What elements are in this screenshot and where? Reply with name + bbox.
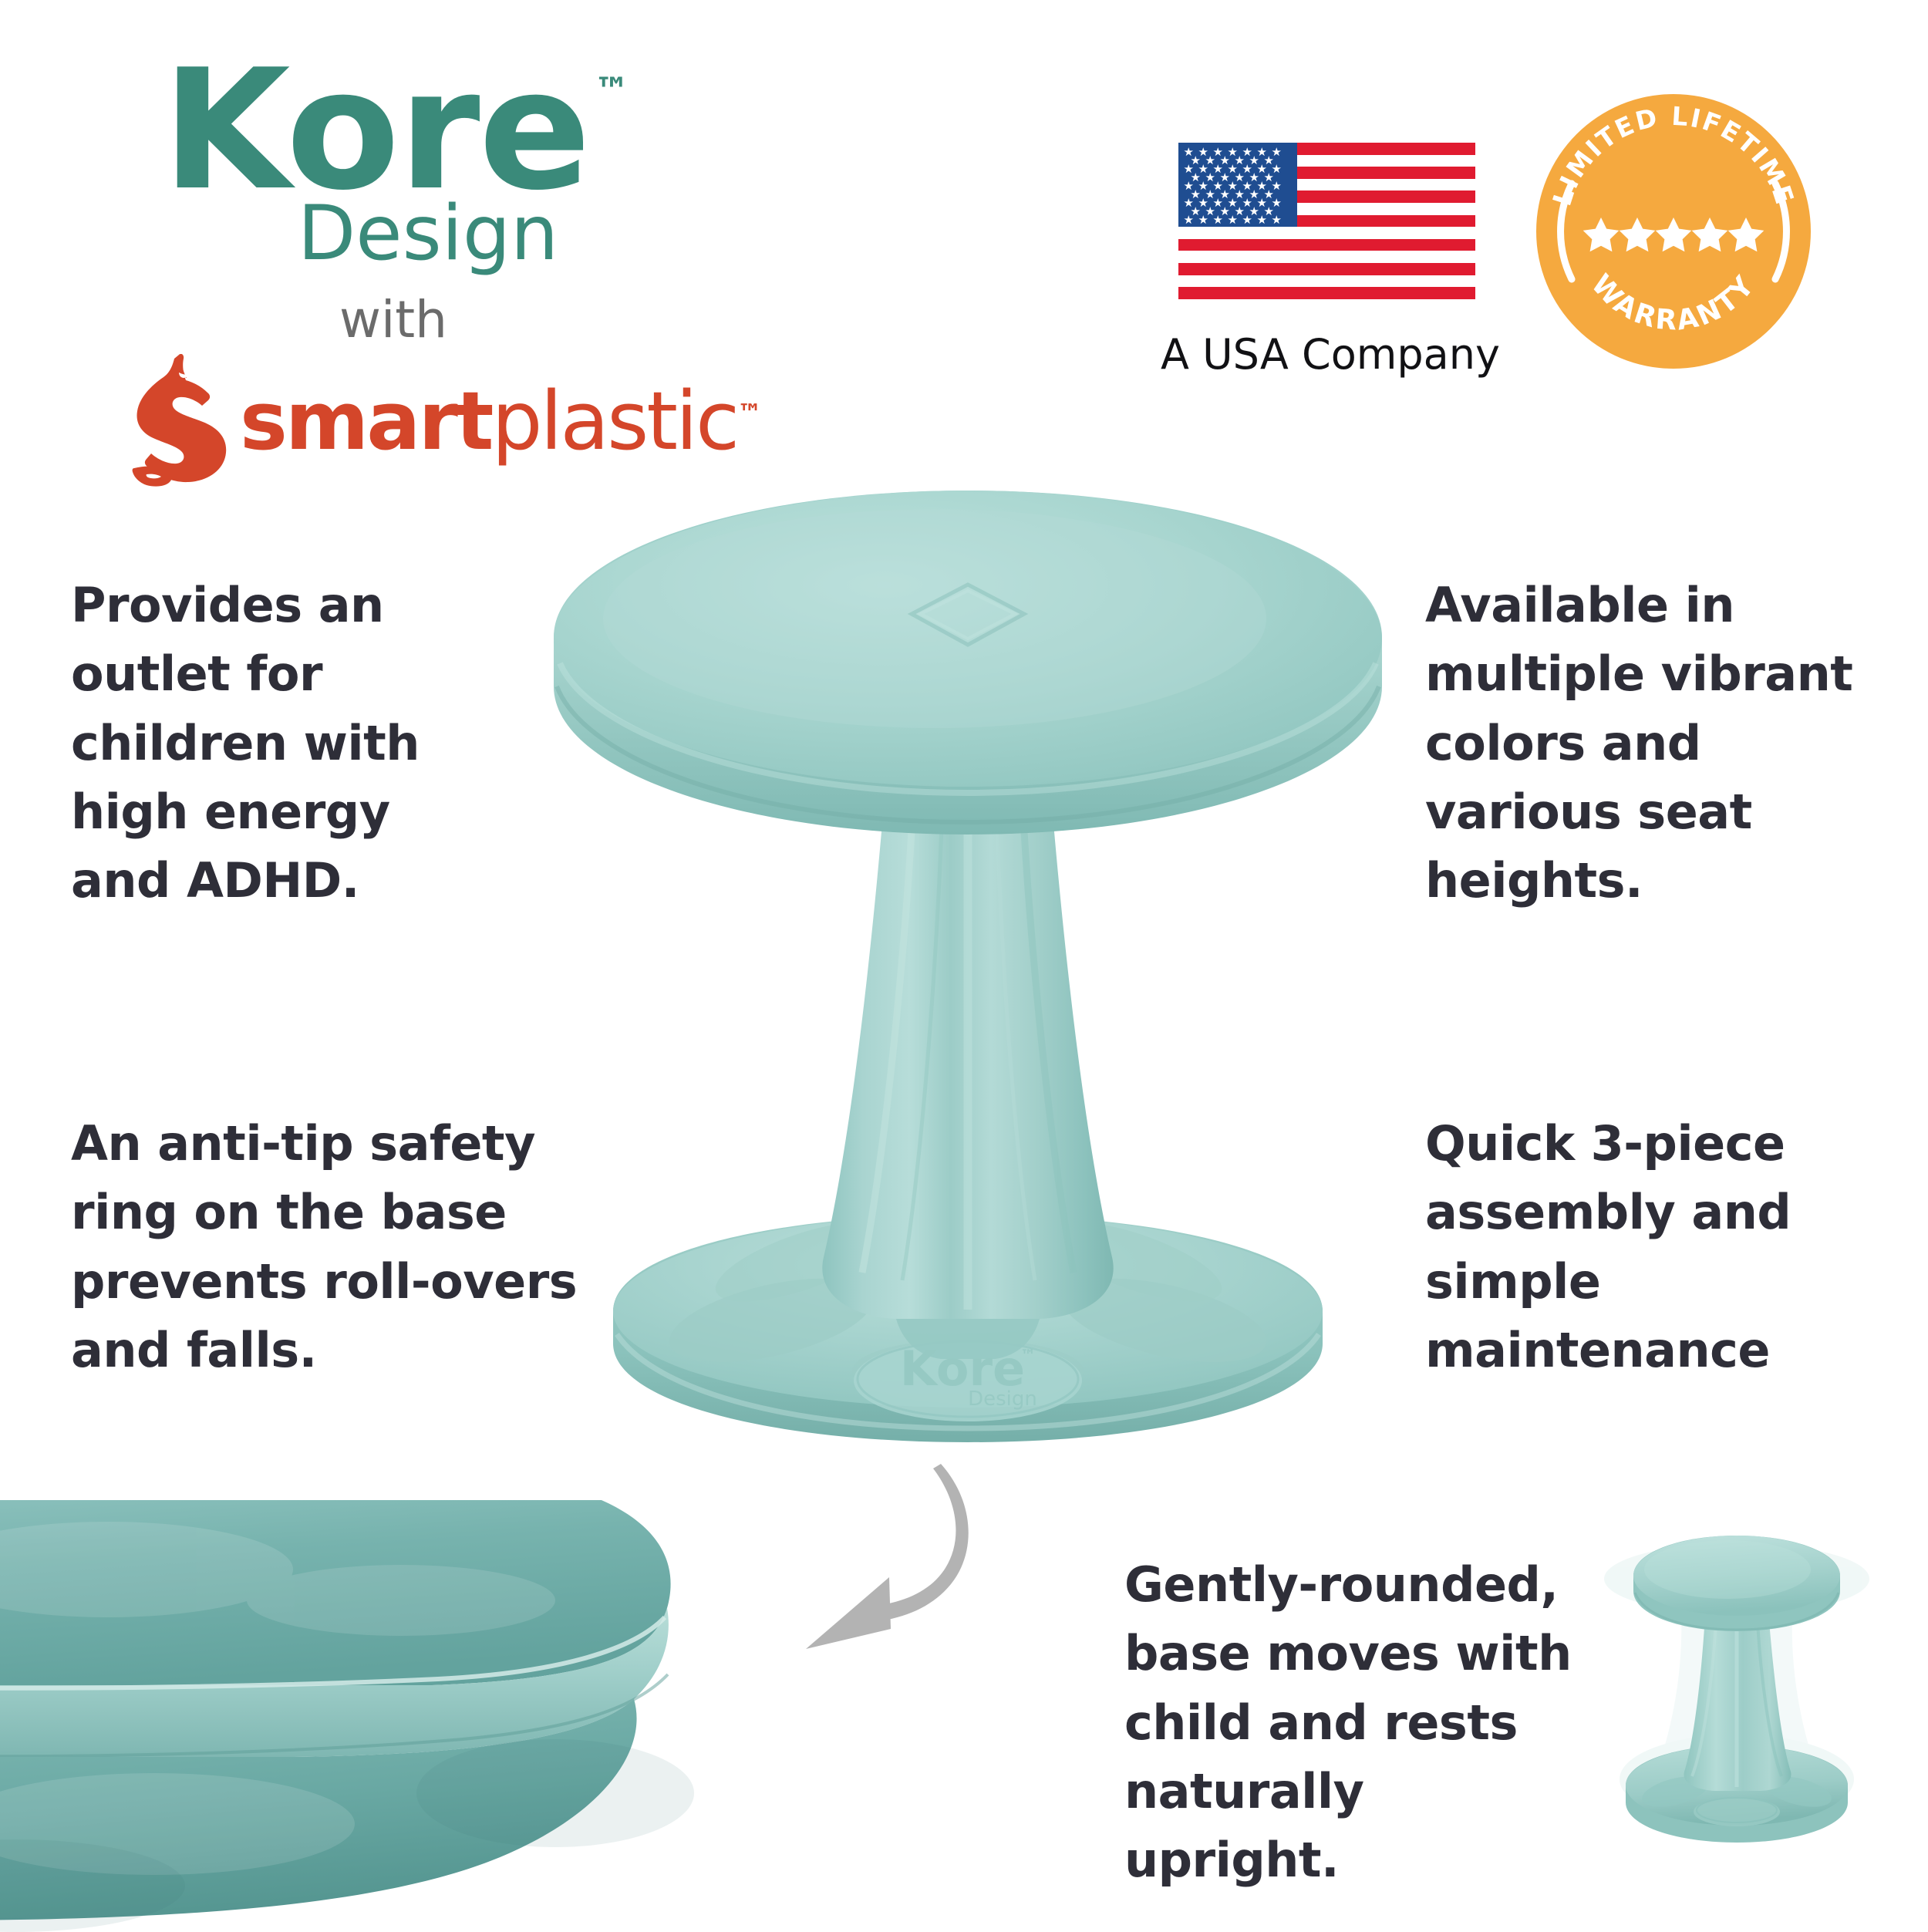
- stool-column: [822, 748, 1113, 1359]
- with-label: with: [131, 290, 625, 349]
- flag-canton: ★★★★★★★ ★★★★★★ ★★★★★★★ ★★★★★★ ★★★★★★★ ★★…: [1178, 143, 1297, 227]
- base-edge-detail-illustration: [0, 1500, 787, 1932]
- wobble-stool-illustration: Kore ™ Design: [540, 455, 1396, 1458]
- usa-company-caption: A USA Company: [1161, 330, 1492, 379]
- smartplastic-wordmark: smartplastic™: [240, 381, 762, 461]
- brand-logo-block: Kore™ Design with smartplastic™: [131, 54, 625, 489]
- limited-lifetime-warranty-badge: LIMITED LIFETIME WARRANTY: [1535, 93, 1812, 370]
- product-thumbnail-image: [1589, 1531, 1889, 1863]
- kore-wordmark: Kore™: [131, 54, 625, 207]
- kore-trademark-symbol: ™: [594, 74, 629, 106]
- stool-seat: [554, 491, 1382, 835]
- fox-s-icon: [131, 354, 235, 489]
- usa-flag-icon: ★★★★★★★ ★★★★★★ ★★★★★★★ ★★★★★★ ★★★★★★★ ★★…: [1178, 143, 1475, 299]
- base-edge-closeup-image: [0, 1500, 787, 1932]
- kore-wordmark-text: Kore: [162, 33, 589, 227]
- smartplastic-bold-part: smart: [240, 374, 491, 468]
- smartplastic-light-part: plastic: [491, 374, 737, 468]
- usa-company-block: ★★★★★★★ ★★★★★★ ★★★★★★★ ★★★★★★ ★★★★★★★ ★★…: [1161, 143, 1492, 379]
- thumbnail-seat: [1633, 1536, 1840, 1631]
- feature-quick-assembly: Quick 3-piece assembly and simple mainte…: [1425, 1109, 1857, 1384]
- feature-rounded-base: Gently-rounded, base moves with child an…: [1124, 1550, 1572, 1894]
- feature-anti-tip-ring: An anti-tip safety ring on the base prev…: [71, 1109, 580, 1384]
- wobble-stool-thumbnail: [1589, 1531, 1889, 1863]
- infographic-canvas: Kore™ Design with smartplastic™: [0, 0, 1928, 1928]
- base-emboss-sub: Design: [968, 1387, 1037, 1411]
- product-main-image: Kore ™ Design: [540, 455, 1396, 1458]
- curved-arrow-icon: [775, 1450, 1030, 1704]
- feature-multiple-colors: Available in multiple vibrant colors and…: [1425, 571, 1857, 915]
- smartplastic-trademark-symbol: ™: [737, 399, 762, 428]
- base-emboss-trademark: ™: [1020, 1346, 1036, 1364]
- feature-provides-outlet: Provides an outlet for children with hig…: [71, 571, 503, 915]
